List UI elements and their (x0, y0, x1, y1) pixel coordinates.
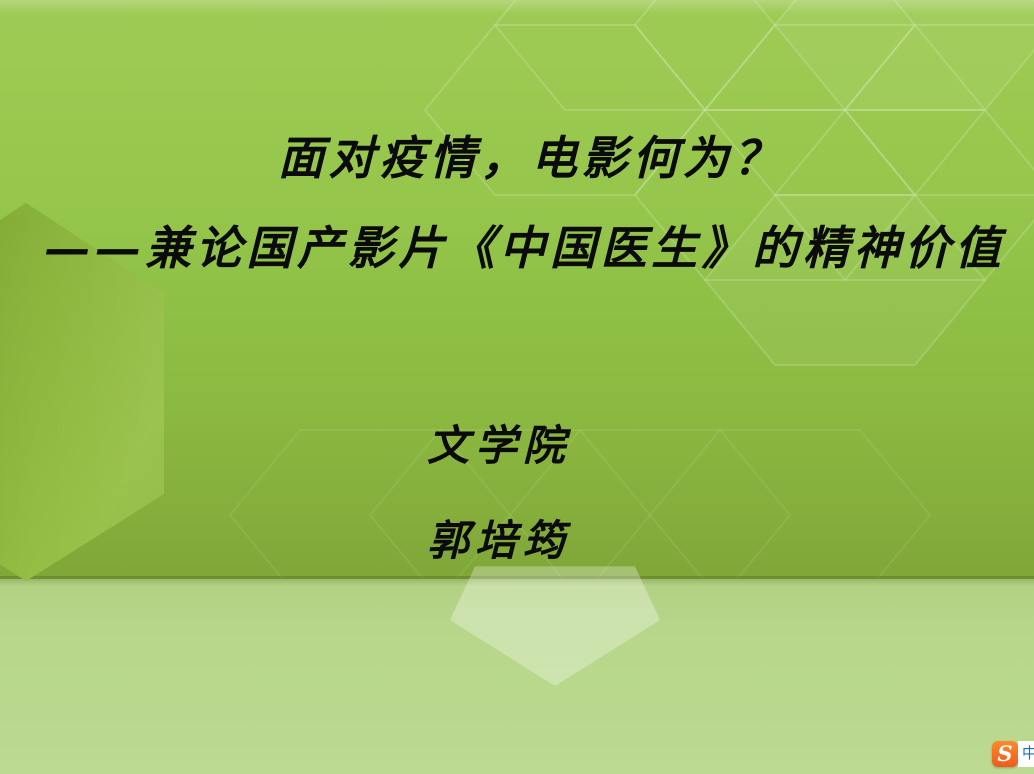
slide-title: 面对疫情，电影何为？ (14, 122, 1034, 188)
sogou-logo-icon: S (992, 741, 1018, 767)
slide-subtitle: ——兼论国产影片《中国医生》的精神价值 (44, 212, 1005, 278)
sogou-watermark-text: 中 (1018, 741, 1034, 767)
sogou-watermark: S 中 (992, 740, 1034, 768)
author-organization: 文学院 (0, 412, 1016, 473)
author-name: 郭培筠 (0, 507, 1016, 568)
presentation-slide: 面对疫情，电影何为？ ——兼论国产影片《中国医生》的精神价值 文学院 郭培筠 S… (0, 0, 1034, 774)
